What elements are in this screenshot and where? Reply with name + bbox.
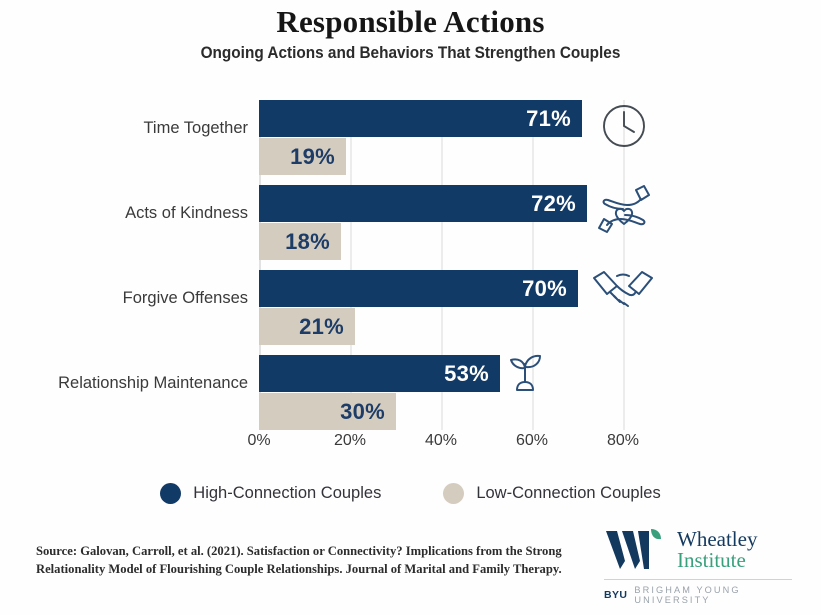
bar-high-3[interactable]: 53% <box>259 355 500 392</box>
bar-low-3[interactable]: 30% <box>259 393 396 430</box>
wheatley-institute-logo: Wheatley Institute BYU BRIGHAM YOUNG UNI… <box>604 527 804 595</box>
logo-divider <box>604 579 792 580</box>
category-label-1: Acts of Kindness <box>0 204 248 223</box>
legend-swatch-high <box>160 483 181 504</box>
bar-value-low-0: 19% <box>290 144 335 170</box>
legend-item-high[interactable]: High-Connection Couples <box>160 483 381 504</box>
logo-byu-row: BYU BRIGHAM YOUNG UNIVERSITY <box>604 585 804 605</box>
logo-word-wheatley: Wheatley <box>677 529 757 550</box>
xtick-3: 60% <box>516 432 548 450</box>
logo-byu-fullname: BRIGHAM YOUNG UNIVERSITY <box>634 585 804 605</box>
bar-value-low-2: 21% <box>299 314 344 340</box>
source-line-2: Relationality Model of Flourishing Coupl… <box>36 560 581 578</box>
bar-value-high-3: 53% <box>444 361 489 387</box>
bar-low-0[interactable]: 19% <box>259 138 346 175</box>
bar-high-2[interactable]: 70% <box>259 270 578 307</box>
category-label-2: Forgive Offenses <box>0 289 248 308</box>
hands-holding-heart-icon <box>592 180 656 244</box>
xtick-2: 40% <box>425 432 457 450</box>
clock-icon <box>596 98 652 154</box>
legend-swatch-low <box>443 483 464 504</box>
bar-value-high-0: 71% <box>526 106 571 132</box>
plot-area: 71% 19% 72% 18% 70% 21% 53% <box>259 100 624 430</box>
legend-item-low[interactable]: Low-Connection Couples <box>443 483 660 504</box>
xtick-1: 20% <box>334 432 366 450</box>
category-label-3: Relationship Maintenance <box>0 374 248 393</box>
chart-page: Responsible Actions Ongoing Actions and … <box>0 0 821 615</box>
source-line-1: Source: Galovan, Carroll, et al. (2021).… <box>36 542 581 560</box>
legend: High-Connection Couples Low-Connection C… <box>0 483 821 504</box>
logo-byu-mark: BYU <box>604 589 627 601</box>
xtick-0: 0% <box>247 432 270 450</box>
source-citation: Source: Galovan, Carroll, et al. (2021).… <box>36 542 581 579</box>
wheatley-w-mark-icon <box>604 527 668 573</box>
legend-label-low: Low-Connection Couples <box>476 484 660 503</box>
bar-high-0[interactable]: 71% <box>259 100 582 137</box>
bar-high-1[interactable]: 72% <box>259 185 587 222</box>
legend-label-high: High-Connection Couples <box>193 484 381 503</box>
logo-word-institute: Institute <box>677 550 757 571</box>
category-label-0: Time Together <box>0 119 248 138</box>
category-axis: Time Together Acts of Kindness Forgive O… <box>0 100 248 430</box>
logo-top-row: Wheatley Institute <box>604 527 804 573</box>
page-title: Responsible Actions <box>0 4 821 40</box>
bar-value-low-3: 30% <box>340 399 385 425</box>
seedling-icon <box>500 348 550 398</box>
logo-wordmark: Wheatley Institute <box>677 529 757 571</box>
bar-value-high-1: 72% <box>531 191 576 217</box>
chart-subtitle: Ongoing Actions and Behaviors That Stren… <box>29 44 793 63</box>
bar-low-1[interactable]: 18% <box>259 223 341 260</box>
value-axis: 0% 20% 40% 60% 80% <box>259 430 624 456</box>
bar-value-high-2: 70% <box>522 276 567 302</box>
bar-value-low-1: 18% <box>285 229 330 255</box>
handshake-icon <box>590 264 656 316</box>
bar-low-2[interactable]: 21% <box>259 308 355 345</box>
xtick-4: 80% <box>607 432 639 450</box>
